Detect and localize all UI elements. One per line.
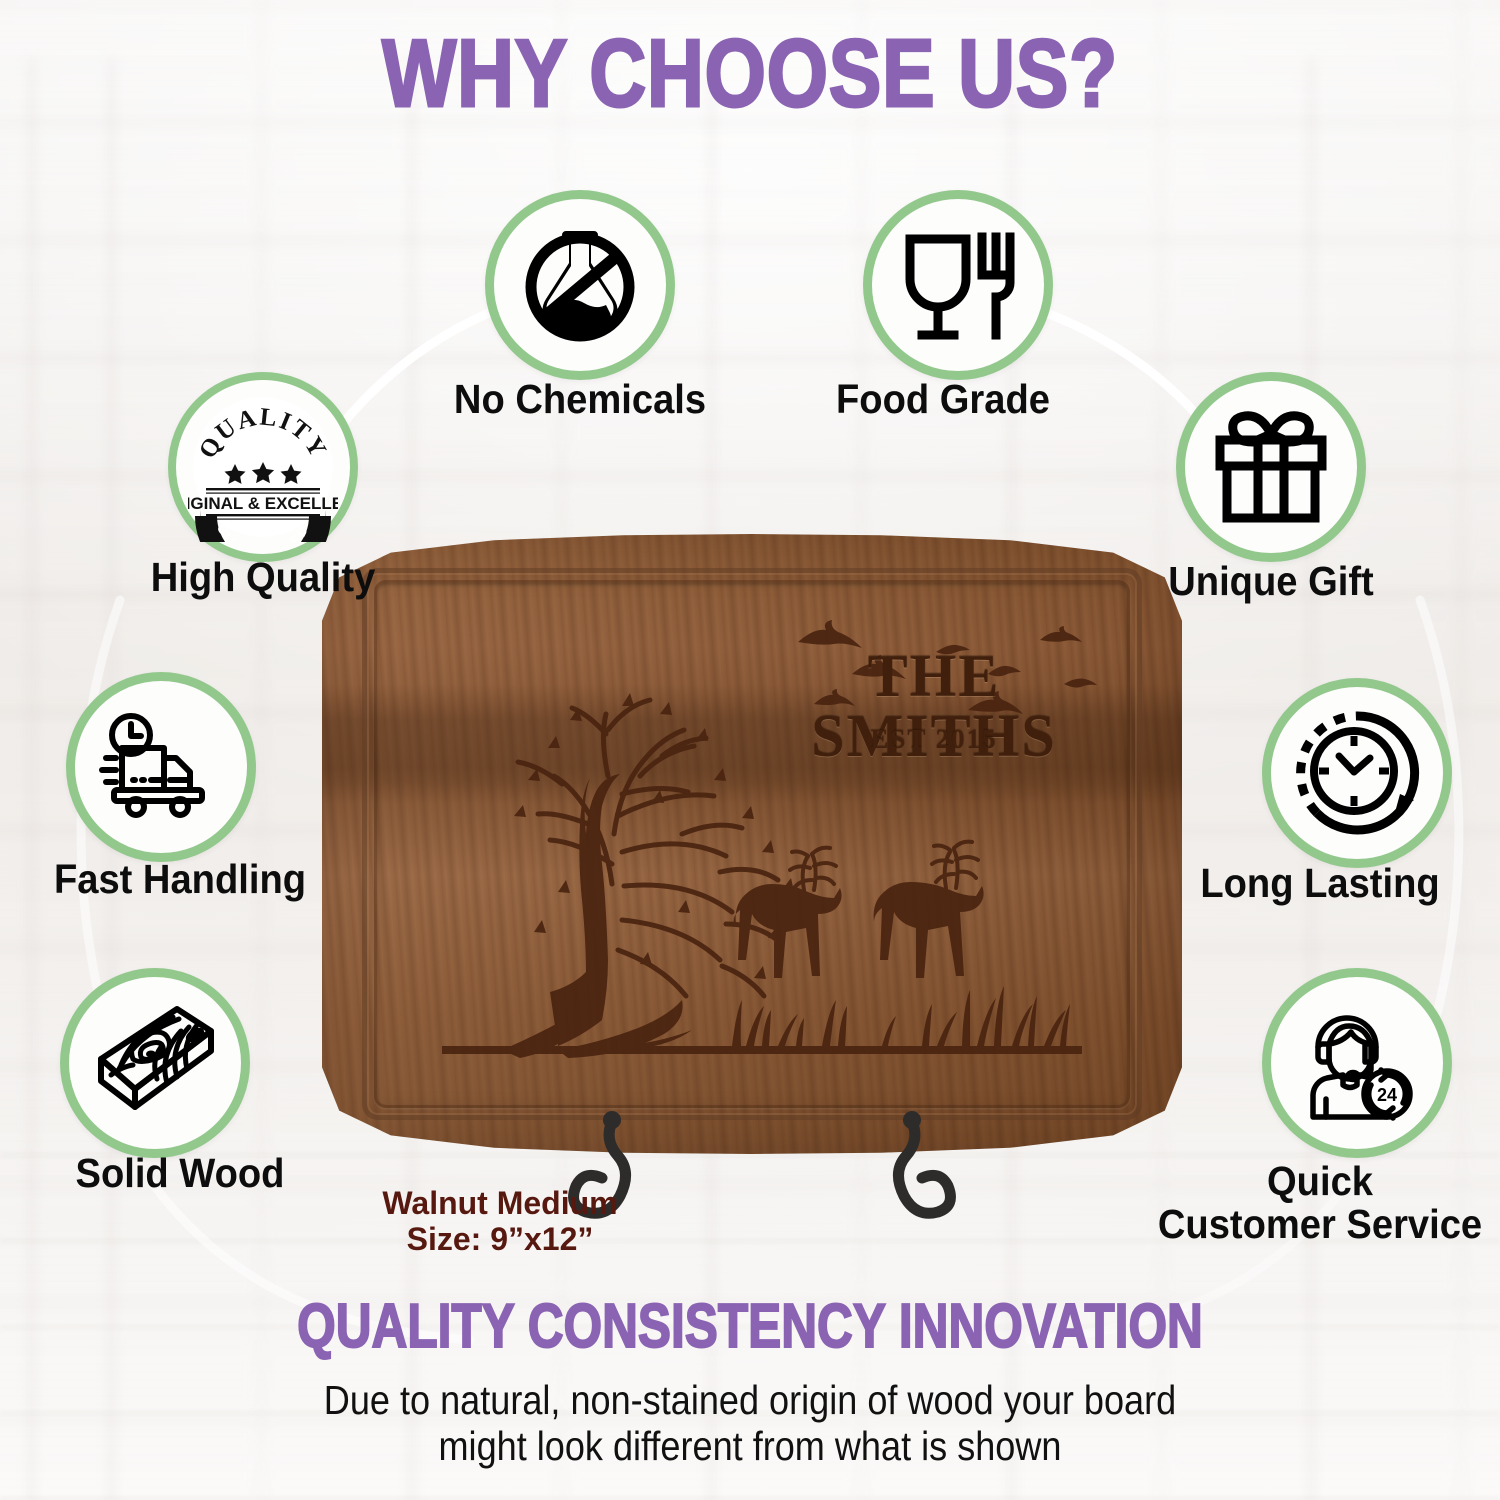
disclaimer-line-2: might look different from what is shown (90, 1424, 1410, 1470)
headset-support-24-icon: 24 (1293, 999, 1421, 1127)
feature-label-quick-customer-service: Quick Customer Service (1153, 1160, 1488, 1247)
footer-tagline: QUALITY CONSISTENCY INNOVATION (150, 1296, 1350, 1358)
engraving-est-year: EST 2015 (754, 724, 1114, 755)
feature-label-unique-gift: Unique Gift (1071, 560, 1471, 603)
feature-icon-circle (66, 672, 256, 862)
engraved-artwork (322, 534, 1182, 1154)
quality-stamp-icon: QUALITY ORIGINAL & EXCELLENT (188, 392, 338, 542)
infographic-canvas: WHY CHOOSE US? (0, 0, 1500, 1500)
product-image: THE SMITHS EST 2015 (322, 534, 1182, 1154)
page-title: WHY CHOOSE US? (135, 26, 1365, 122)
feature-icon-circle (1262, 678, 1452, 868)
gift-box-icon (1208, 404, 1334, 530)
feature-label-line-1: Quick (1153, 1160, 1488, 1203)
no-chemicals-flask-icon (516, 221, 644, 349)
cutting-board: THE SMITHS EST 2015 (322, 534, 1182, 1154)
feature-label-high-quality: High Quality (63, 556, 463, 599)
footer-disclaimer: Due to natural, non-stained origin of wo… (90, 1378, 1410, 1470)
feature-label-no-chemicals: No Chemicals (380, 378, 780, 421)
support-24-badge-text: 24 (1377, 1085, 1397, 1105)
wood-plank-icon (89, 997, 221, 1129)
feature-icon-circle (60, 968, 250, 1158)
feature-icon-circle (863, 190, 1053, 380)
product-caption: Walnut Medium Size: 9”x12” (250, 1186, 750, 1258)
feature-icon-circle (1176, 372, 1366, 562)
food-grade-glass-fork-icon (896, 223, 1020, 347)
feature-icon-circle (485, 190, 675, 380)
feature-label-long-lasting: Long Lasting (1153, 862, 1488, 905)
feature-icon-circle: 24 (1262, 968, 1452, 1158)
feature-label-fast-handling: Fast Handling (13, 858, 348, 901)
feature-icon-circle: QUALITY ORIGINAL & EXCELLENT (168, 372, 358, 562)
feature-label-line-2: Customer Service (1153, 1203, 1488, 1246)
delivery-truck-clock-icon (96, 702, 226, 832)
feature-label-food-grade: Food Grade (743, 378, 1143, 421)
disclaimer-line-1: Due to natural, non-stained origin of wo… (90, 1378, 1410, 1424)
caption-line-2: Size: 9”x12” (250, 1222, 750, 1258)
svg-text:ORIGINAL & EXCELLENT: ORIGINAL & EXCELLENT (188, 494, 338, 513)
clock-arrow-icon (1292, 708, 1422, 838)
feature-label-solid-wood: Solid Wood (13, 1152, 348, 1195)
